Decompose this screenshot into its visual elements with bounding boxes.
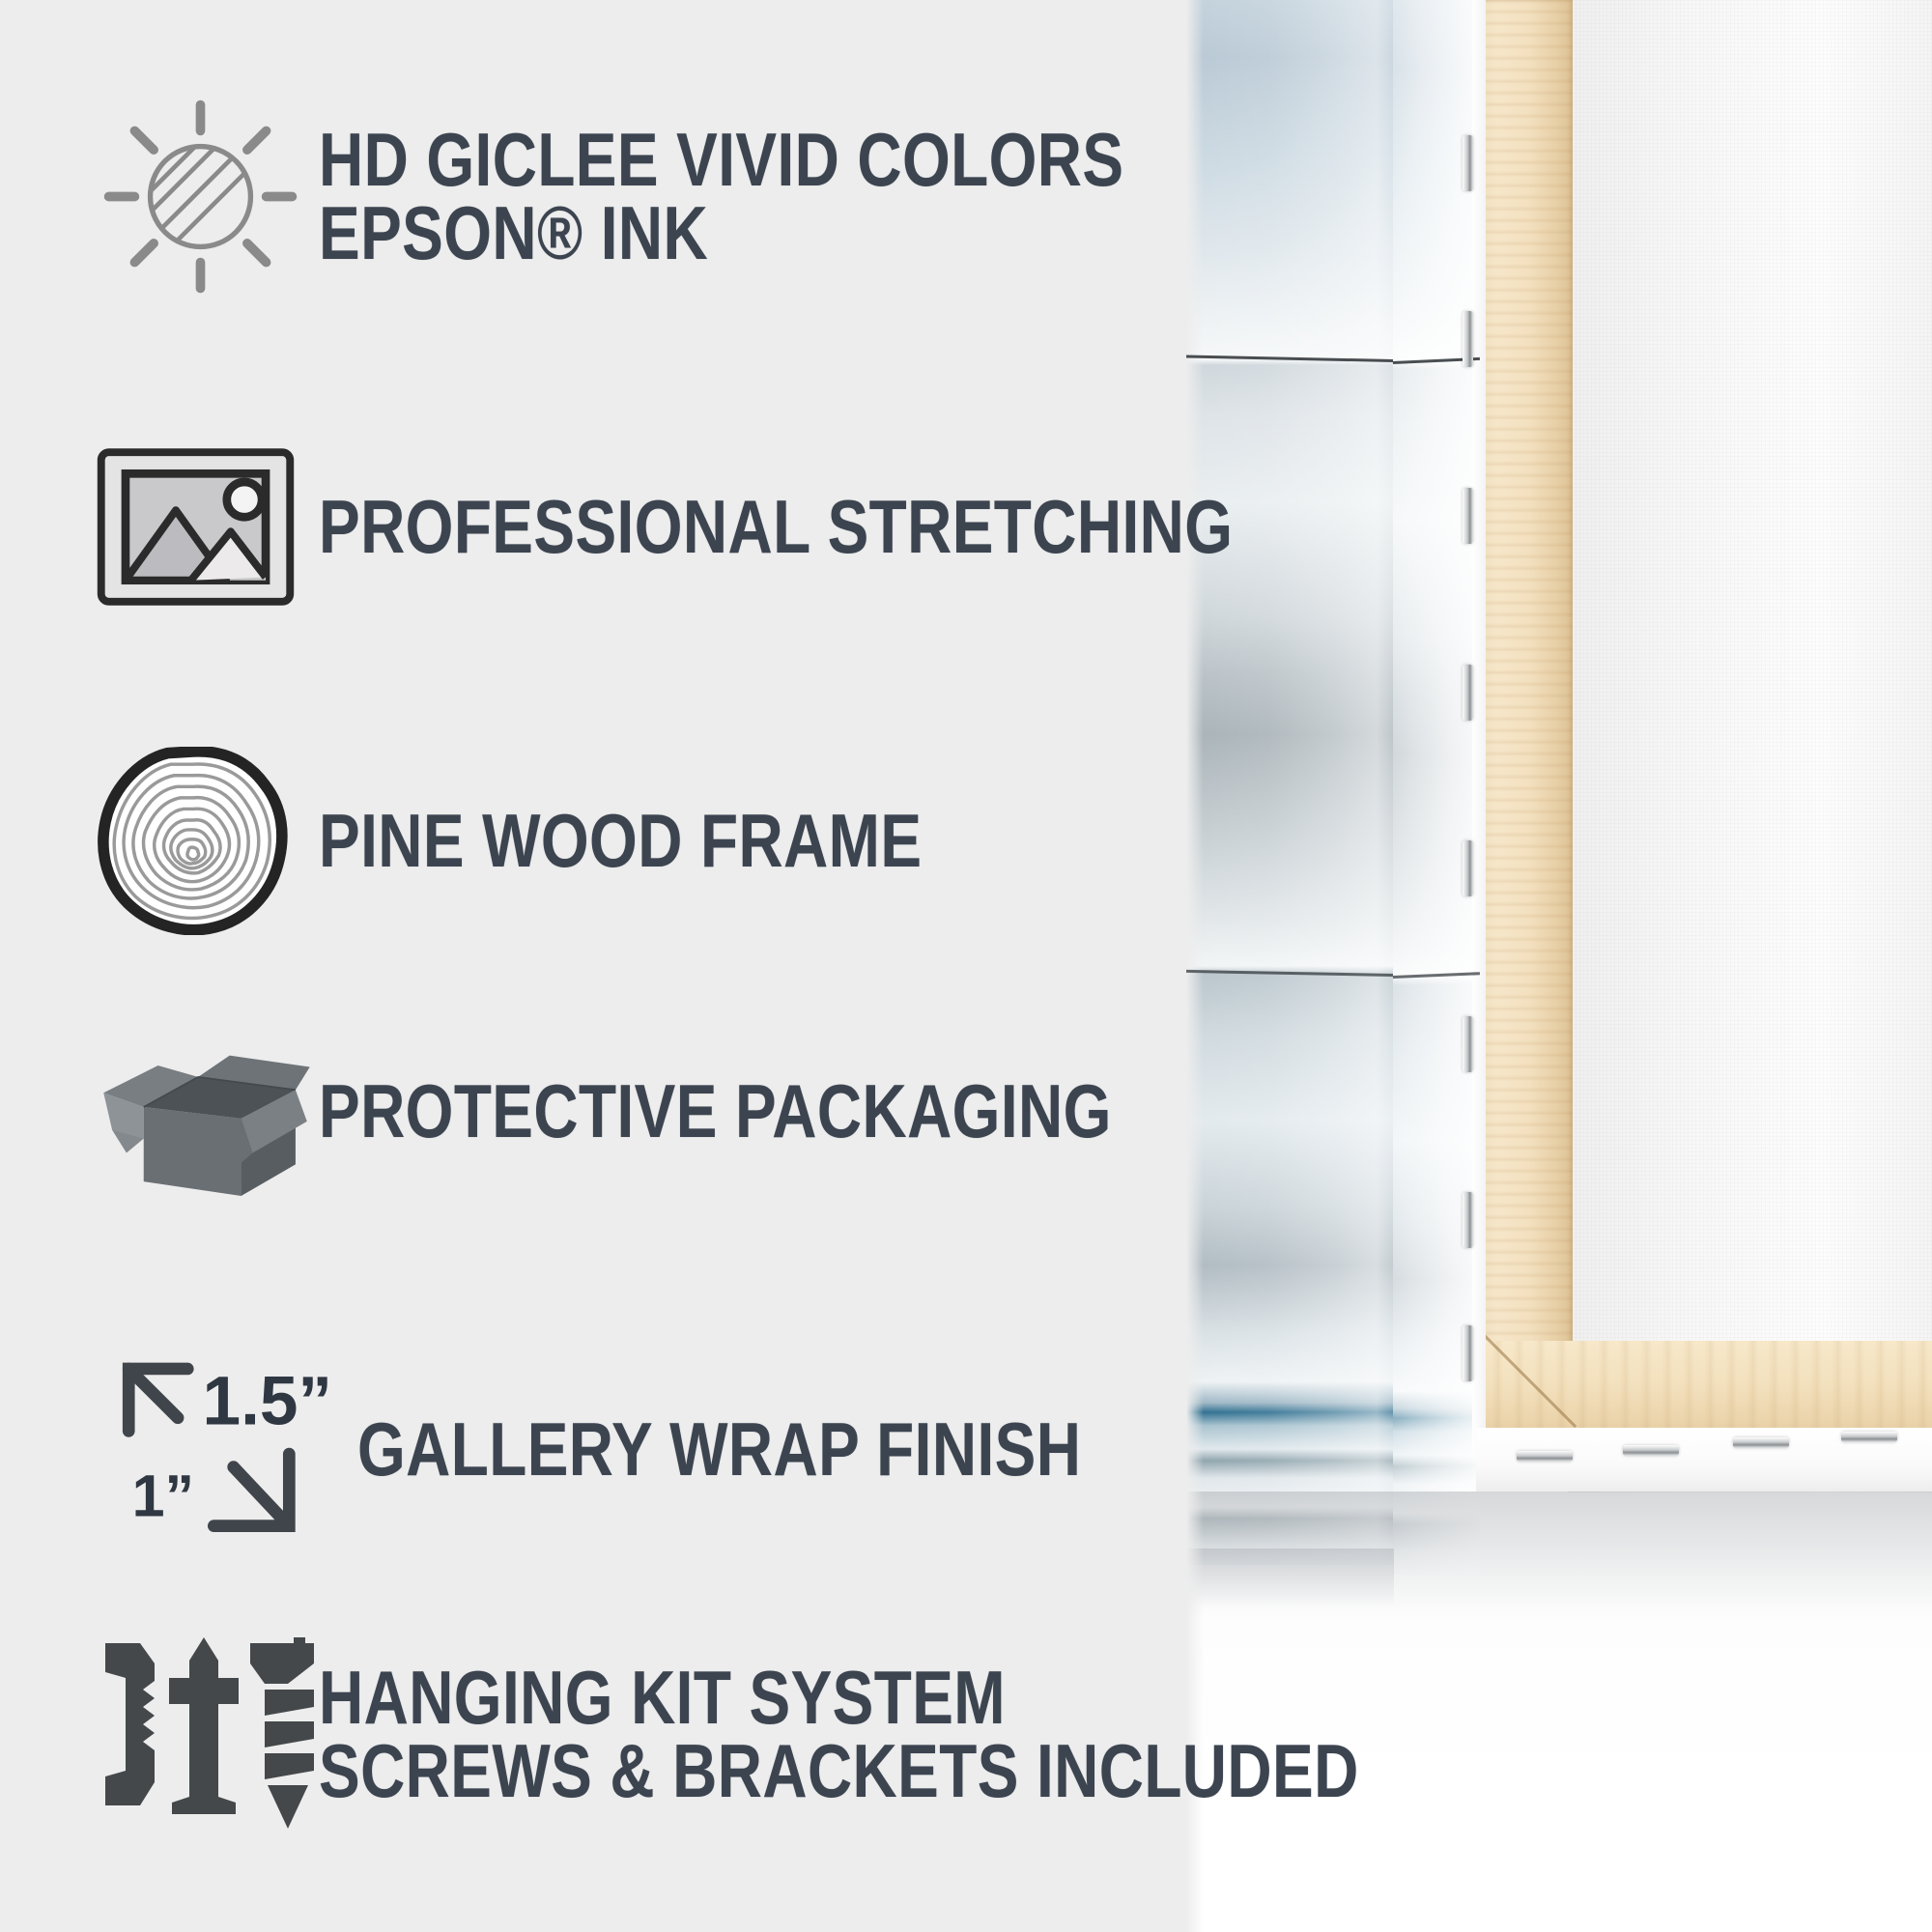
sun-icon-wrapper [97,85,319,307]
feature-label-line: GALLERY WRAP FINISH [357,1412,1081,1486]
staple [1463,1192,1473,1248]
staple [1623,1445,1679,1456]
feature-label-line: PROFESSIONAL STRETCHING [319,490,1233,563]
staple [1463,1325,1473,1381]
feature-item-packaging: PROTECTIVE PACKAGING [97,1000,1286,1222]
feature-label-line: PROTECTIVE PACKAGING [319,1074,1112,1148]
feature-label-packaging: PROTECTIVE PACKAGING [319,1074,1112,1148]
feature-label-line: PINE WOOD FRAME [319,804,922,877]
canvas-flap-vertical [1472,0,1486,1449]
arrow-diagonal-lower-right [234,1467,286,1523]
tree-rings-icon-wrapper [97,729,319,952]
staple [1463,135,1473,191]
hardware-icon-wrapper [97,1623,319,1845]
staple [1517,1451,1573,1462]
feature-label-line: EPSON® INK [319,196,1123,270]
infographic-page: HD GICLEE VIVID COLORS EPSON® INK [0,0,1932,1932]
pine-wood-stretcher-bar-vertical [1476,0,1573,1449]
feature-item-pine-wood: PINE WOOD FRAME [97,729,1055,952]
feature-item-stretching: PROFESSIONAL STRETCHING [97,415,1434,638]
feature-item-giclee: HD GICLEE VIVID COLORS EPSON® INK [97,85,1300,307]
staple [1841,1432,1897,1442]
open-box-icon [97,1027,314,1196]
feature-item-gallery-wrap: 1.5” 1” GALLERY WRAP FINISH [97,1338,1240,1560]
feature-label-giclee: HD GICLEE VIVID COLORS EPSON® INK [319,123,1123,270]
picture-frame-icon [97,447,295,607]
feature-list: HD GICLEE VIVID COLORS EPSON® INK [0,0,1246,1932]
feature-label-gallery-wrap: GALLERY WRAP FINISH [357,1412,1081,1486]
staple [1733,1437,1789,1448]
dimension-arrows-icon-wrapper: 1.5” 1” [97,1338,367,1560]
staple [1463,1016,1473,1072]
dimension-arrows-icon: 1.5” 1” [97,1352,367,1546]
dimension-label-depth: 1.5” [202,1364,332,1440]
feature-label-pine-wood: PINE WOOD FRAME [319,804,922,877]
feature-label-stretching: PROFESSIONAL STRETCHING [319,490,1233,563]
staple [1463,665,1473,721]
tree-rings-icon [97,747,290,935]
staple [1463,311,1473,367]
feature-item-hanging-kit: HANGING KIT SYSTEM SCREWS & BRACKETS INC… [97,1623,1587,1845]
feature-label-line: HANGING KIT SYSTEM [319,1661,1359,1734]
screw-icon [250,1637,314,1829]
feature-label-hanging-kit: HANGING KIT SYSTEM SCREWS & BRACKETS INC… [319,1661,1359,1808]
feature-label-line: SCREWS & BRACKETS INCLUDED [319,1734,1359,1807]
staple [1463,488,1473,544]
dimension-label-width: 1” [132,1463,194,1528]
sawtooth-bracket-icon [105,1643,155,1805]
open-box-icon-wrapper [97,1000,319,1222]
sun-icon [97,93,304,300]
nail-icon [169,1637,239,1814]
feature-label-line: HD GICLEE VIVID COLORS [319,123,1123,196]
staple [1463,840,1473,896]
picture-frame-icon-wrapper [97,415,319,638]
hardware-icon [97,1626,314,1843]
arrow-diagonal-upper-left [128,1369,178,1418]
